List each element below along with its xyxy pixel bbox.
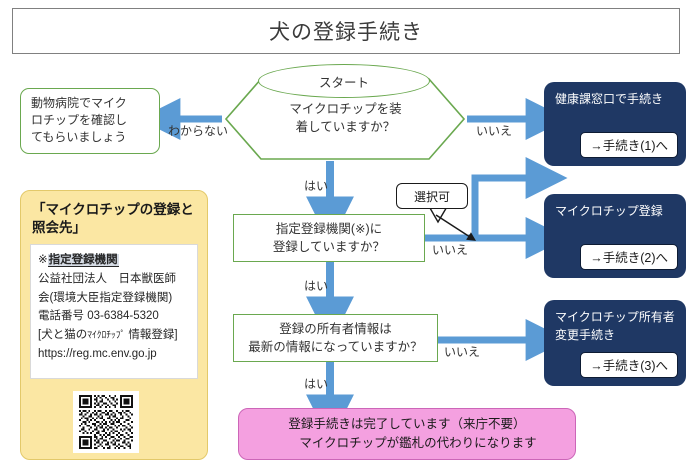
agency-label: 指定登録機関 — [48, 254, 119, 267]
action-box-owner-change[interactable]: マイクロチップ所有者変更手続き →手続き(3)へ — [544, 300, 686, 386]
registration-info-panel: 「マイクロチップの登録と照会先」 ※指定登録機関 公益社団法人 日本獣医師 会(… — [20, 190, 208, 460]
decision1-label: マイクロチップを装 着していますか？ — [243, 100, 448, 136]
action1-button[interactable]: →手続き(1)へ — [580, 132, 678, 158]
phone-line: 電話番号 03-6384-5320 — [38, 307, 190, 326]
action-box-health-desk[interactable]: 健康課窓口で手続き →手続き(1)へ — [544, 82, 686, 166]
start-label: スタート — [319, 72, 369, 91]
decision1-line1: マイクロチップを装 — [243, 100, 448, 118]
edge-label-unknown: わからない — [168, 122, 228, 139]
selectable-callout-label: 選択可 — [414, 188, 450, 205]
info-panel-card: ※指定登録機関 公益社団法人 日本獣医師 会(環境大臣指定登録機関) 電話番号 … — [30, 244, 198, 379]
decision2-line1: 指定登録機関(※)に — [273, 220, 385, 238]
org-line-1: 公益社団法人 日本獣医師 — [38, 270, 190, 289]
action3-title: マイクロチップ所有者変更手続き — [555, 308, 677, 344]
registry-url[interactable]: https://reg.mc.env.go.jp — [38, 345, 190, 364]
result-line-2: マイクロチップが鑑札の代わりになります — [277, 434, 536, 453]
qr-code-image — [79, 395, 133, 449]
decision3-line2: 最新の情報になっていますか？ — [248, 338, 422, 356]
action3-button[interactable]: →手続き(3)へ — [580, 352, 678, 378]
org-line-2: 会(環境大臣指定登録機関) — [38, 289, 190, 308]
action-box-microchip-registration[interactable]: マイクロチップ登録 →手続き(2)へ — [544, 194, 686, 278]
edge-label-yes-3: はい — [304, 375, 328, 392]
flowchart-canvas: 犬の登録手続き マイクロ — [0, 0, 694, 475]
edge-label-no-3: いいえ — [444, 343, 480, 360]
decision1-line2: 着していますか？ — [243, 118, 448, 136]
agency-marker: ※ — [38, 254, 48, 266]
vet-check-note: 動物病院でマイク ロチップを確認し てもらいましょう — [20, 88, 160, 154]
service-prefix: [犬と猫の — [38, 329, 87, 341]
qr-code — [73, 391, 139, 453]
decision3-line1: 登録の所有者情報は — [248, 320, 422, 338]
selectable-callout: 選択可 — [396, 183, 468, 209]
result-box: 登録手続きは完了しています（来庁不要） マイクロチップが鑑札の代わりになります — [238, 408, 576, 460]
vet-note-line2: ロチップを確認し — [31, 112, 151, 129]
action1-title: 健康課窓口で手続き — [555, 90, 677, 108]
edge-label-no-2: いいえ — [432, 241, 468, 258]
action2-button[interactable]: →手続き(2)へ — [580, 244, 678, 270]
agency-line: ※指定登録機関 — [38, 251, 190, 270]
vet-note-line3: てもらいましょう — [31, 129, 151, 146]
service-kana: ﾏｲｸﾛﾁｯﾌﾟ — [87, 330, 125, 341]
edge-label-yes-1: はい — [304, 177, 328, 194]
start-node: スタート — [258, 64, 430, 98]
decision2-box: 指定登録機関(※)に 登録していますか？ — [233, 214, 425, 262]
info-panel-heading: 「マイクロチップの登録と照会先」 — [32, 201, 198, 237]
vet-note-line1: 動物病院でマイク — [31, 95, 151, 112]
phone-number: 03-6384-5320 — [87, 310, 159, 322]
phone-label: 電話番号 — [38, 310, 84, 322]
edge-no2-branch-up — [475, 178, 534, 238]
edge-label-no-1: いいえ — [476, 122, 512, 139]
result-line-1: 登録手続きは完了しています（来庁不要） — [288, 415, 525, 434]
service-suffix: 情報登録] — [125, 329, 177, 341]
service-name-line: [犬と猫のﾏｲｸﾛﾁｯﾌﾟ 情報登録] — [38, 326, 190, 345]
edge-label-yes-2: はい — [304, 277, 328, 294]
decision3-box: 登録の所有者情報は 最新の情報になっていますか？ — [233, 314, 438, 362]
action2-title: マイクロチップ登録 — [555, 202, 677, 220]
decision2-line2: 登録していますか？ — [273, 238, 385, 256]
